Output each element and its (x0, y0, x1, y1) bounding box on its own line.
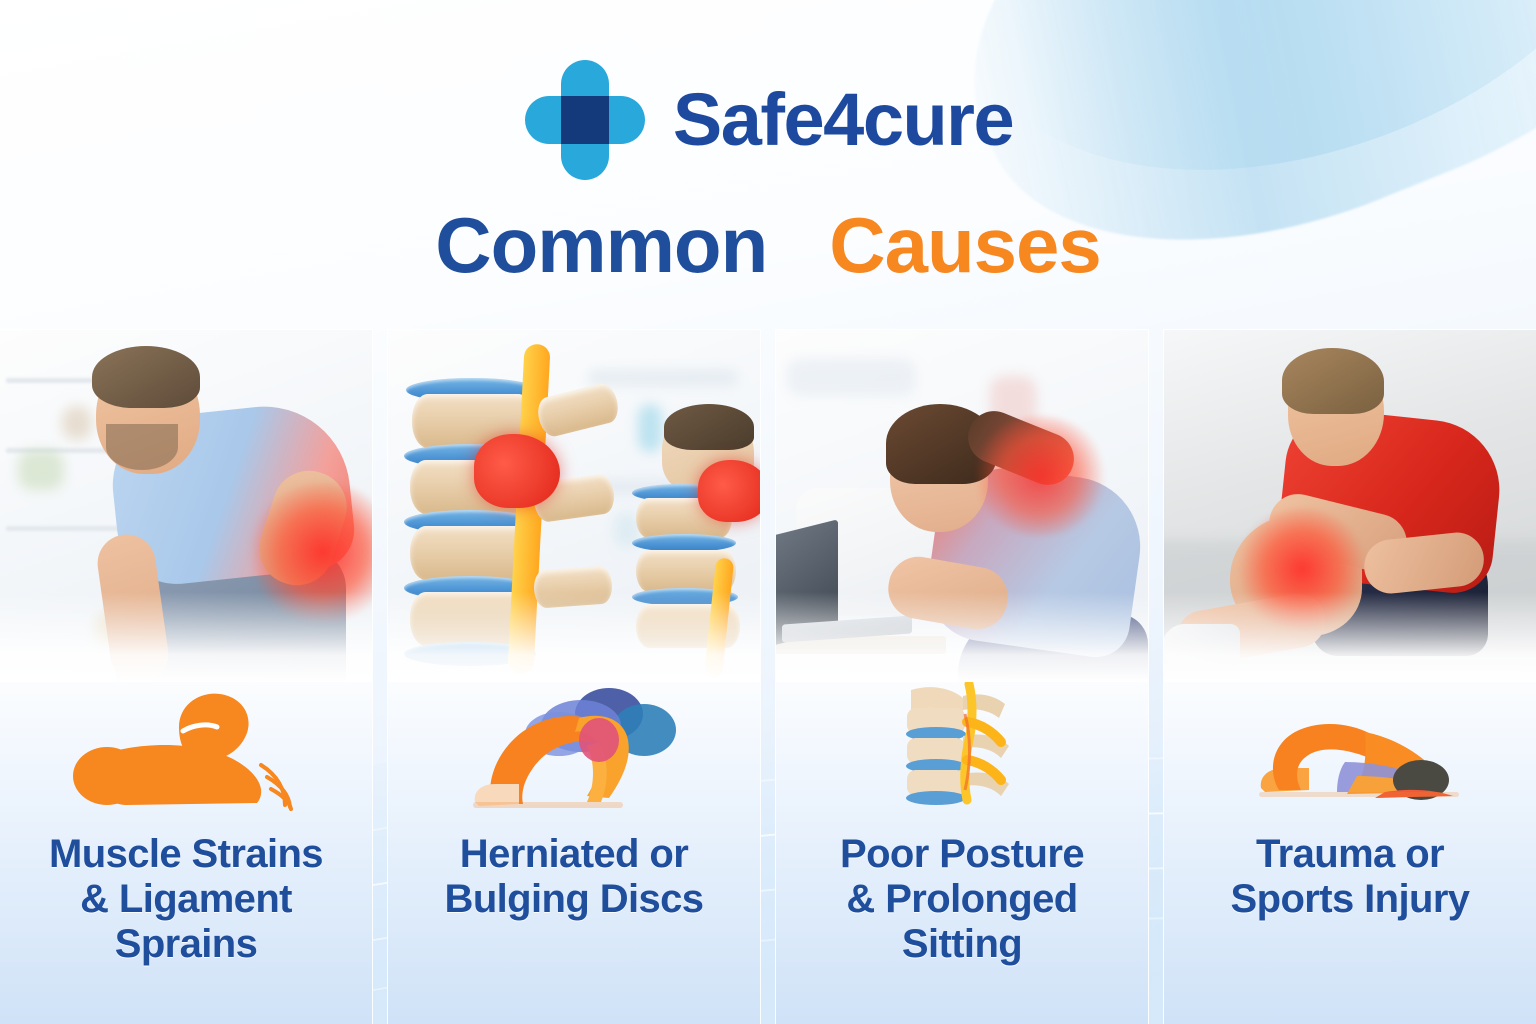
cause-card-poor-posture[interactable]: Poor Posture & Prolonged Sitting (776, 330, 1148, 1024)
cause-label-herniated-discs: Herniated or Bulging Discs (388, 832, 760, 1024)
flexed-bicep-icon (0, 664, 372, 832)
spine-vertebrae-icon (776, 664, 1148, 832)
brand-lockup: Safe4cure (0, 56, 1536, 184)
cause-label-line-1: Muscle Strains (8, 832, 364, 877)
page-title-part-2: Causes (829, 201, 1101, 289)
cross-center-square (561, 96, 609, 144)
page-title-part-1: Common (435, 201, 767, 289)
cause-label-trauma-sports: Trauma or Sports Injury (1164, 832, 1536, 1024)
cause-label-line-2: & Prolonged Sitting (784, 877, 1140, 967)
cause-card-herniated-discs[interactable]: Herniated or Bulging Discs (388, 330, 760, 1024)
cause-label-line-2: & Ligament Sprains (8, 877, 364, 967)
poster-header: Safe4cure Common Causes (0, 0, 1536, 284)
cause-label-line-2: Bulging Discs (396, 877, 752, 922)
cause-card-row: Muscle Strains & Ligament Sprains (0, 330, 1536, 1024)
cause-label-line-1: Trauma or (1172, 832, 1528, 877)
kneeling-cat-stretch-icon (388, 664, 760, 832)
cause-card-trauma-sports[interactable]: Trauma or Sports Injury (1164, 330, 1536, 1024)
medical-cross-icon (523, 58, 647, 182)
cause-photo-muscle-strains (0, 330, 372, 682)
childs-pose-stretch-icon (1164, 664, 1536, 832)
cause-label-poor-posture: Poor Posture & Prolonged Sitting (776, 832, 1148, 1024)
cause-label-line-1: Poor Posture (784, 832, 1140, 877)
cause-card-muscle-strains[interactable]: Muscle Strains & Ligament Sprains (0, 330, 372, 1024)
infographic-poster: Safe4cure Common Causes (0, 0, 1536, 1024)
cause-label-line-1: Herniated or (396, 832, 752, 877)
cause-label-line-2: Sports Injury (1172, 877, 1528, 922)
cause-photo-poor-posture (776, 330, 1148, 682)
cause-photo-herniated-discs (388, 330, 760, 682)
cause-photo-trauma-sports (1164, 330, 1536, 682)
page-title: Common Causes (0, 206, 1536, 284)
brand-name: Safe4cure (673, 83, 1013, 157)
cause-label-muscle-strains: Muscle Strains & Ligament Sprains (0, 832, 372, 1024)
